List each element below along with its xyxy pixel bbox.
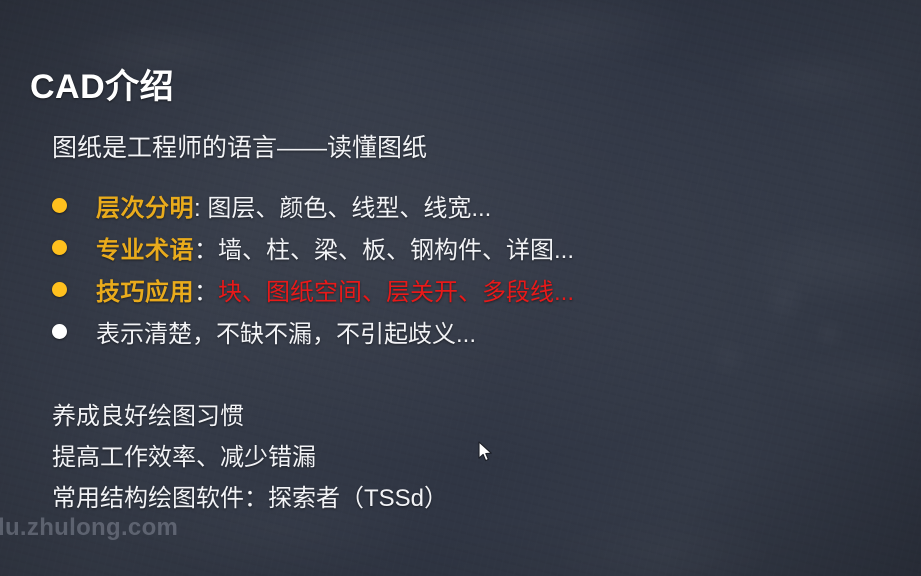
gold-bullet-dot xyxy=(52,240,67,255)
presentation-slide: CAD介绍 图纸是工程师的语言——读懂图纸 层次分明: 图层、颜色、线型、线宽.… xyxy=(0,0,921,576)
bullet-item-3-body: 表示清楚，不缺不漏，不引起歧义... xyxy=(96,321,476,348)
bullet-item-2-text: 技巧应用：块、图纸空间、层关开、多段线... xyxy=(96,272,574,307)
slide-title: CAD介绍 xyxy=(30,59,174,108)
bullet-item-2-separator: ： xyxy=(194,279,218,306)
closing-line-0: 养成良好绘图习惯 xyxy=(52,396,448,437)
bullet-item-3-text: 表示清楚，不缺不漏，不引起歧义... xyxy=(96,314,476,349)
bullet-item-1: 专业术语：墙、柱、梁、板、钢构件、详图... xyxy=(52,226,872,268)
closing-line-2: 常用结构绘图软件：探索者（TSSd） xyxy=(52,478,448,519)
bullet-item-0-separator: : xyxy=(194,195,207,222)
bullet-item-0-lead: 层次分明 xyxy=(96,195,194,222)
closing-line-1: 提高工作效率、减少错漏 xyxy=(52,437,448,478)
bullet-item-2: 技巧应用：块、图纸空间、层关开、多段线... xyxy=(52,268,872,310)
bullet-item-1-lead: 专业术语 xyxy=(96,237,194,264)
bullet-item-2-lead: 技巧应用 xyxy=(96,279,194,306)
bullet-item-1-separator: ： xyxy=(194,237,218,264)
bullet-item-3: 表示清楚，不缺不漏，不引起歧义... xyxy=(52,310,872,352)
bullet-item-0-body: 图层、颜色、线型、线宽... xyxy=(207,195,491,222)
slide-content: CAD介绍 图纸是工程师的语言——读懂图纸 层次分明: 图层、颜色、线型、线宽.… xyxy=(0,0,921,576)
gold-bullet-dot xyxy=(52,282,67,297)
site-watermark: du.zhulong.com xyxy=(0,514,178,542)
bullet-list: 层次分明: 图层、颜色、线型、线宽... 专业术语：墙、柱、梁、板、钢构件、详图… xyxy=(52,184,872,352)
mouse-pointer-icon xyxy=(478,441,494,463)
bullet-item-0: 层次分明: 图层、颜色、线型、线宽... xyxy=(52,184,872,226)
bullet-item-0-text: 层次分明: 图层、颜色、线型、线宽... xyxy=(96,188,491,223)
bullet-item-1-body: 墙、柱、梁、板、钢构件、详图... xyxy=(218,237,574,264)
closing-paragraph: 养成良好绘图习惯 提高工作效率、减少错漏 常用结构绘图软件：探索者（TSSd） xyxy=(52,396,448,519)
bullet-item-2-body: 块、图纸空间、层关开、多段线... xyxy=(218,279,574,306)
slide-subtitle: 图纸是工程师的语言——读懂图纸 xyxy=(52,128,427,164)
gold-bullet-dot xyxy=(52,198,67,213)
white-bullet-dot xyxy=(52,324,67,339)
bullet-item-1-text: 专业术语：墙、柱、梁、板、钢构件、详图... xyxy=(96,230,574,265)
